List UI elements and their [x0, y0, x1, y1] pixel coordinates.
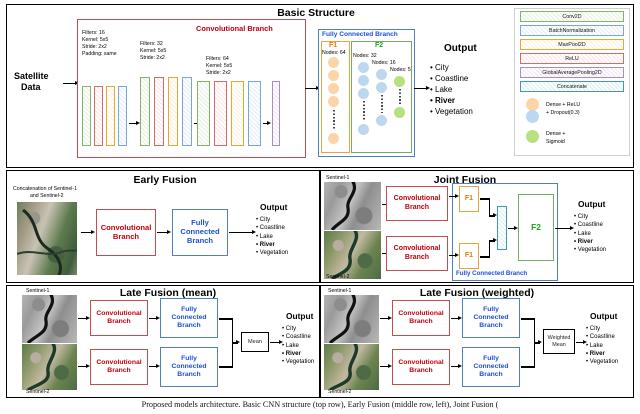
late-weighted-fc2-l3: Branch — [479, 371, 502, 378]
joint-f2-label: F2 — [531, 223, 541, 233]
f2-label: F2 — [375, 42, 383, 49]
joint-conv-branch-box-1: Convolutional Branch — [386, 186, 448, 221]
f2-node-16 — [376, 69, 387, 80]
early-class-river: • River — [256, 241, 288, 249]
basic-output-list: • City • Coastline • Lake • River • Vege… — [430, 62, 473, 117]
joint-conv1-label-line1: Convolutional — [394, 195, 441, 202]
block2-filters: Filters: 32 — [140, 41, 163, 47]
early-fc-label-line3: Branch — [187, 236, 213, 245]
relu-slab-1 — [94, 86, 103, 146]
block3-filters: Filters: 64 — [206, 56, 229, 62]
joint-conv2-label-line2: Branch — [405, 254, 429, 261]
late-weighted-fc1-l3: Branch — [479, 322, 502, 329]
late-mean-sentinel1-label: Sentinel-1 — [26, 288, 49, 294]
f2-node-out — [394, 76, 405, 87]
late-mean-fc2-l1: Fully — [181, 355, 197, 362]
relu-slab-2 — [154, 77, 164, 146]
basic-class-coastline: • Coastline — [430, 73, 473, 84]
late-weighted-merge-box: Weighted Mean — [543, 329, 575, 354]
f2-16-ellipsis — [381, 95, 383, 113]
joint-conv-branch-box-2: Convolutional Branch — [386, 236, 448, 271]
f2-node-out — [394, 107, 405, 118]
joint-sentinel2-label: Sentinel-2 — [326, 274, 349, 280]
block2-kernel: Kernel: 5x5 — [140, 48, 166, 54]
early-fc-branch-box: Fully Connected Branch — [172, 209, 228, 256]
f2-node-16 — [376, 82, 387, 93]
late-mean-elbow-top-v — [232, 318, 234, 342]
legend-dense-sigmoid-line1: Dense + — [546, 131, 565, 137]
late-weighted-sentinel2-label: Sentinel-2 — [328, 389, 351, 395]
late-weighted-conv1-l2: Branch — [409, 318, 432, 325]
late-weighted-class-city: • City — [586, 325, 618, 333]
early-class-coastline: • Coastline — [256, 224, 288, 232]
early-input-caption-line2: and Sentinel-2 — [30, 193, 63, 199]
late-mean-fc1-l2: Connected — [171, 314, 206, 321]
late-weighted-sentinel2-image — [324, 344, 379, 390]
legend-dense-sigmoid-line2: Sigmoid — [546, 139, 565, 145]
basic-class-vegetation: • Vegetation — [430, 106, 473, 117]
early-output-list: • City • Coastline • Lake • River • Vege… — [256, 216, 288, 257]
basic-class-city: • City — [430, 62, 473, 73]
block2-stride: Stride: 2x2 — [140, 55, 165, 61]
late-weighted-class-vegetation: • Vegetation — [586, 358, 618, 366]
late-mean-class-river: • River — [282, 350, 314, 358]
f1-node — [328, 133, 339, 144]
late-mean-elbow-bot-v — [232, 343, 234, 367]
late-weighted-class-river: • River — [586, 350, 618, 358]
early-conv-branch-box: Convolutional Branch — [96, 209, 156, 256]
late-mean-conv1-l2: Branch — [107, 318, 130, 325]
late-weighted-elbow-join-head — [538, 340, 542, 344]
block1-kernel: Kernel: 5x5 — [82, 37, 108, 43]
joint-f1-label-2: F1 — [465, 252, 473, 260]
f2-32-ellipsis — [363, 101, 365, 121]
early-arrow-input-to-conv-head — [91, 230, 95, 234]
arrow-block3-to-gap-head — [267, 121, 271, 125]
joint-output-title: Output — [578, 199, 605, 209]
f2-nodes-16: Nodes: 16 — [372, 60, 396, 66]
early-fusion-title: Early Fusion — [100, 174, 230, 186]
late-weighted-fc2-l2: Connected — [473, 363, 508, 370]
late-mean-fc1-l3: Branch — [177, 322, 200, 329]
late-mean-fc2-l3: Branch — [177, 371, 200, 378]
early-arrow-conv-to-fc-head — [167, 230, 171, 234]
late-mean-conv-box-1: Convolutional Branch — [90, 300, 148, 336]
late-weighted-merge-l1: Weighted — [548, 335, 571, 341]
joint-arrow-f2-to-output — [555, 228, 571, 229]
fc-branch-title: Fully Connected Branch — [322, 31, 398, 38]
joint-f1-box-2: F1 — [459, 243, 479, 269]
legend-item-globalaveragepooling2d: GlobalAveragePooling2D — [520, 67, 624, 78]
early-fusion-input-image — [17, 202, 77, 275]
basic-class-lake: • Lake — [430, 84, 473, 95]
f2-node-32 — [358, 75, 369, 86]
late-weighted-output-list: • City • Coastline • Lake • River • Vege… — [586, 325, 618, 366]
joint-class-vegetation: • Vegetation — [574, 246, 606, 254]
maxpool2d-slab-3 — [231, 81, 244, 146]
conv-branch-title: Convolutional Branch — [196, 24, 273, 33]
late-weighted-output-title: Output — [590, 311, 617, 321]
joint-f1-label-1: F1 — [465, 195, 473, 203]
late-mean-output-title: Output — [286, 311, 313, 321]
joint-sentinel1-image — [324, 182, 381, 230]
late-mean-sentinel2-image — [22, 344, 77, 390]
joint-conv2-label-line1: Convolutional — [394, 245, 441, 252]
block3-stride: Stride: 2x2 — [206, 70, 231, 76]
late-mean-class-coastline: • Coastline — [282, 333, 314, 341]
legend-item-relu: ReLU — [520, 53, 624, 64]
f2-nodes-5: Nodes: 5 — [390, 67, 411, 73]
maxpool2d-slab-2 — [168, 77, 178, 146]
late-weighted-class-lake: • Lake — [586, 342, 618, 350]
globalavgpool-slab — [272, 81, 280, 146]
late-mean-fc2-l2: Connected — [171, 363, 206, 370]
satellite-data-label-line1: Satellite — [14, 71, 49, 81]
batchnorm-slab-3 — [248, 81, 261, 146]
late-mean-merge-box: Mean — [241, 332, 269, 352]
joint-elbow-f1a-v — [489, 198, 491, 216]
late-weighted-merge-l2: Mean — [552, 342, 566, 348]
late-weighted-fc1-l1: Fully — [483, 306, 499, 313]
early-arrow-fc-to-output — [229, 232, 253, 233]
joint-concatenate-block — [497, 206, 507, 250]
f1-node — [328, 96, 339, 107]
legend-dense-sigmoid-node — [526, 130, 539, 143]
figure-caption: Proposed models architecture. Basic CNN … — [0, 400, 640, 413]
late-mean-class-vegetation: • Vegetation — [282, 358, 314, 366]
f2-node-32 — [358, 88, 369, 99]
early-class-vegetation: • Vegetation — [256, 249, 288, 257]
conv2d-slab-2 — [140, 77, 150, 146]
early-fc-label-line1: Fully — [191, 218, 209, 227]
joint-class-city: • City — [574, 213, 606, 221]
late-mean-fc-box-2: Fully Connected Branch — [160, 347, 218, 387]
late-mean-class-city: • City — [282, 325, 314, 333]
late-weighted-fc2-l1: Fully — [483, 355, 499, 362]
late-mean-class-lake: • Lake — [282, 342, 314, 350]
late-mean-fc-box-1: Fully Connected Branch — [160, 298, 218, 338]
f2-node-32 — [358, 124, 369, 135]
conv2d-slab-3 — [197, 81, 210, 146]
f2-out-ellipsis — [399, 89, 401, 105]
late-weighted-sentinel1-label: Sentinel-1 — [328, 288, 351, 294]
legend-dense-relu-line2: + Dropout(0.3) — [546, 110, 580, 116]
late-weighted-elbow-top-v — [534, 318, 536, 342]
joint-class-coastline: • Coastline — [574, 221, 606, 229]
joint-sentinel1-label: Sentinel-1 — [326, 175, 349, 181]
late-mean-fc1-l1: Fully — [181, 306, 197, 313]
legend-item-concatenate: Concatenate — [520, 81, 624, 92]
f2-node-16 — [376, 115, 387, 126]
late-weighted-sentinel1-image — [324, 295, 379, 343]
joint-f2-box: F2 — [518, 194, 554, 261]
joint-sentinel2-image — [324, 231, 381, 279]
legend-item-conv2d: Conv2D — [520, 11, 624, 22]
conv2d-slab-1 — [82, 86, 91, 146]
f1-node — [328, 57, 339, 68]
late-mean-merge-label: Mean — [248, 339, 262, 345]
legend-item-batchnormalization: BatchNormalization — [520, 25, 624, 36]
late-weighted-conv-box-2: Convolutional Branch — [392, 349, 450, 385]
f1-node — [328, 70, 339, 81]
joint-class-lake: • Lake — [574, 230, 606, 238]
f1-node — [328, 83, 339, 94]
late-mean-conv1-l1: Convolutional — [96, 310, 141, 317]
early-input-caption-line1: Concatenation of Sentinel-1 — [13, 186, 77, 192]
block3-kernel: Kernel: 5x5 — [206, 63, 232, 69]
joint-conv1-label-line2: Branch — [405, 204, 429, 211]
joint-f1-box-1: F1 — [459, 186, 479, 212]
legend-dropout-node — [526, 110, 539, 123]
late-weighted-fc1-l2: Connected — [473, 314, 508, 321]
maxpool2d-slab-1 — [106, 86, 115, 146]
basic-output-title: Output — [444, 43, 477, 54]
late-mean-elbow-join-head — [236, 340, 240, 344]
block1-padding: Padding: same — [82, 51, 117, 57]
f1-ellipsis — [333, 110, 335, 130]
late-weighted-conv2-l1: Convolutional — [398, 359, 443, 366]
late-mean-output-list: • City • Coastline • Lake • River • Vege… — [282, 325, 314, 366]
block1-filters: Filters: 16 — [82, 30, 105, 36]
late-weighted-fc-box-1: Fully Connected Branch — [462, 298, 520, 338]
legend-item-maxpool2d: MaxPool2D — [520, 39, 624, 50]
f1-nodes: Nodes: 64 — [322, 50, 346, 56]
satellite-data-label-line2: Data — [21, 82, 41, 92]
early-output-title: Output — [260, 202, 287, 212]
late-mean-sentinel2-label: Sentinel-2 — [26, 389, 49, 395]
late-weighted-class-coastline: • Coastline — [586, 333, 618, 341]
early-class-lake: • Lake — [256, 233, 288, 241]
late-weighted-fc-box-2: Fully Connected Branch — [462, 347, 520, 387]
f2-node-32 — [358, 62, 369, 73]
basic-structure-title: Basic Structure — [236, 7, 396, 19]
block1-stride: Stride: 2x2 — [82, 44, 107, 50]
joint-fc-branch-title: Fully Connected Branch — [456, 270, 527, 277]
f2-nodes-32: Nodes: 32 — [353, 53, 377, 59]
legend-dense-relu-line1: Dense + ReLU — [546, 102, 580, 108]
batchnorm-slab-2 — [182, 77, 192, 146]
batchnorm-slab-1 — [118, 86, 127, 146]
f1-label: F1 — [329, 42, 337, 49]
relu-slab-3 — [214, 81, 227, 146]
early-class-city: • City — [256, 216, 288, 224]
joint-class-river: • River — [574, 238, 606, 246]
late-weighted-conv2-l2: Branch — [409, 367, 432, 374]
early-conv-label-line1: Convolutional — [101, 223, 152, 232]
late-weighted-conv1-l1: Convolutional — [398, 310, 443, 317]
early-conv-label-line2: Branch — [113, 232, 139, 241]
late-weighted-conv-box-1: Convolutional Branch — [392, 300, 450, 336]
early-fc-label-line2: Connected — [180, 227, 219, 236]
late-mean-conv2-l2: Branch — [107, 367, 130, 374]
late-mean-conv2-l1: Convolutional — [96, 359, 141, 366]
joint-elbow-f1b-v — [489, 240, 491, 257]
basic-class-river: • River — [430, 95, 473, 106]
late-mean-sentinel1-image — [22, 295, 77, 343]
joint-output-list: • City • Coastline • Lake • River • Vege… — [574, 213, 606, 254]
late-weighted-elbow-bot-v — [534, 343, 536, 367]
late-mean-conv-box-2: Convolutional Branch — [90, 349, 148, 385]
